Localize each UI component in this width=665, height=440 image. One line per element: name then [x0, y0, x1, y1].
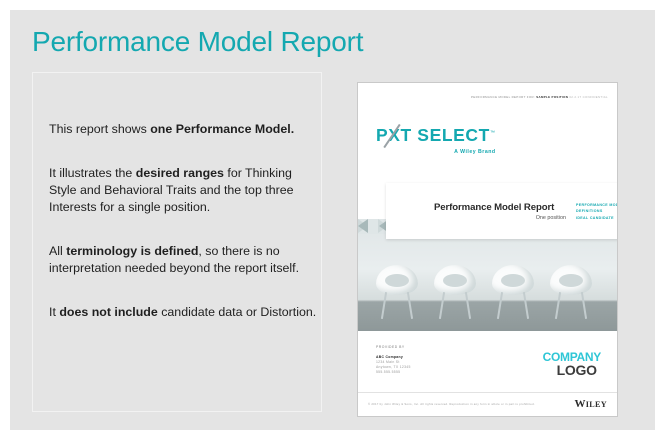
- address-line: 555.555.5555: [376, 370, 411, 375]
- body-paragraph: It does not include candidate data or Di…: [49, 304, 317, 321]
- chair-icon: [550, 265, 592, 305]
- wiley-brand-tagline: A Wiley Brand: [376, 149, 496, 155]
- report-cover-subtitle: One position: [434, 215, 566, 221]
- emphasis-text: desired ranges: [136, 166, 224, 180]
- emphasis-text: does not include: [59, 305, 157, 319]
- report-cover-sections: PERFORMANCE MODELDEFINITIONSIDEAL CANDID…: [576, 202, 618, 221]
- plain-text: This report shows: [49, 122, 150, 136]
- wiley-logo-prefix: W: [574, 398, 585, 410]
- report-header-prefix: PERFORMANCE MODEL REPORT FOR:: [471, 95, 535, 99]
- provided-by-block: PROVIDED BY ABC Company 1234 Main StAnyt…: [376, 345, 411, 375]
- body-paragraph: It illustrates the desired ranges for Th…: [49, 165, 317, 216]
- report-thumbnail[interactable]: PERFORMANCE MODEL REPORT FOR: SAMPLE POS…: [357, 82, 618, 417]
- plain-text: It: [49, 305, 59, 319]
- report-cover-card: Performance Model Report One position PE…: [386, 183, 618, 239]
- content-panel: This report shows one Performance Model.…: [32, 72, 322, 412]
- plain-text: candidate data or Distortion.: [158, 305, 316, 319]
- plain-text: All: [49, 244, 66, 258]
- report-header-date: 02.2.17: [569, 95, 581, 99]
- wiley-logo: WILEY: [574, 398, 607, 410]
- pxt-select-logo: PXT SELECT™ A Wiley Brand: [376, 127, 496, 155]
- company-logo-placeholder: COMPANY LOGO: [543, 349, 601, 377]
- report-cover-title: Performance Model Report: [434, 202, 554, 213]
- report-header-line: PERFORMANCE MODEL REPORT FOR: SAMPLE POS…: [471, 95, 608, 99]
- emphasis-text: one Performance Model.: [150, 122, 294, 136]
- copyright-text: © 2017 by John Wiley & Sons, Inc. All ri…: [368, 402, 535, 406]
- body-copy: This report shows one Performance Model.…: [49, 121, 317, 321]
- slide-canvas: Performance Model Report This report sho…: [10, 10, 655, 430]
- report-footer: © 2017 by John Wiley & Sons, Inc. All ri…: [358, 392, 617, 416]
- company-logo-line2: LOGO: [557, 363, 601, 377]
- chair-icon: [434, 265, 476, 305]
- trademark-icon: ™: [490, 130, 496, 136]
- wiley-logo-rest: ILEY: [586, 400, 607, 409]
- emphasis-text: terminology is defined: [66, 244, 198, 258]
- report-header-subject: SAMPLE POSITION: [536, 95, 568, 99]
- chair-icon: [376, 265, 418, 305]
- body-paragraph: This report shows one Performance Model.: [49, 121, 317, 138]
- body-paragraph: All terminology is defined, so there is …: [49, 243, 317, 277]
- plain-text: It illustrates the: [49, 166, 136, 180]
- triangle-shape: [358, 219, 368, 233]
- cover-section-item: IDEAL CANDIDATE: [576, 215, 618, 221]
- report-header-confidentiality: CONFIDENTIAL: [583, 95, 608, 99]
- provided-by-address: 1234 Main StAnytown, TX 12345555.555.555…: [376, 360, 411, 375]
- chair-icon: [492, 265, 534, 305]
- page-title: Performance Model Report: [32, 26, 363, 58]
- provided-by-label: PROVIDED BY: [376, 345, 411, 350]
